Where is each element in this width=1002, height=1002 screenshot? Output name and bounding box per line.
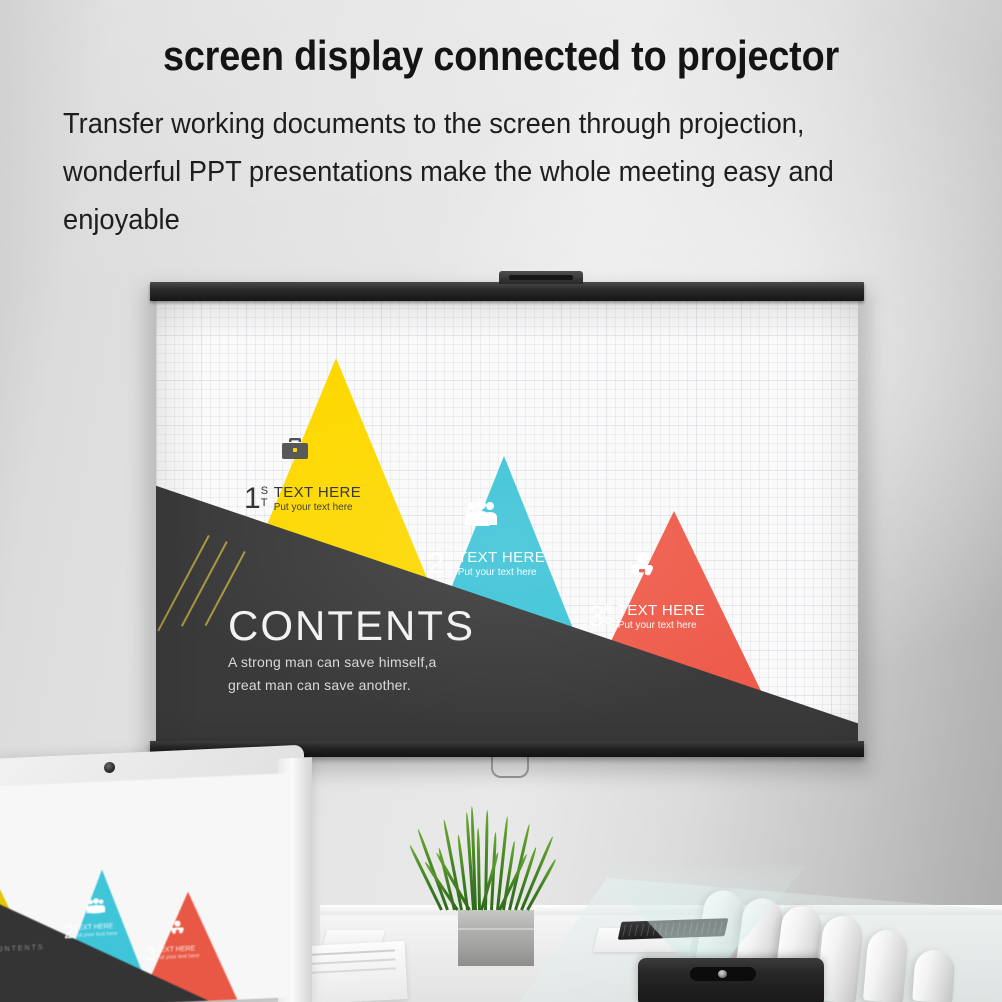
people-group-icon: [464, 499, 498, 532]
projection-screen: 1ST TEXT HERE Put your text here 2ND TEX…: [150, 282, 864, 768]
mini-peak-3-subtitle: Put your text here: [156, 953, 199, 962]
peak-2-number: 2: [428, 549, 445, 579]
peak-1-subtitle: Put your text here: [274, 501, 362, 514]
peak-3-subtitle: Put your text here: [618, 619, 706, 632]
laptop-showing-same-slide: 2 TEXT HERE Put your text here 3 TEXT HE…: [0, 752, 312, 1002]
chair: [863, 928, 909, 1002]
header-text-block: screen display connected to projector Tr…: [0, 0, 1002, 244]
mini-person-at-desk-icon: [168, 920, 187, 942]
peak-1-title: TEXT HERE: [274, 485, 362, 501]
peak-3-text-group: TEXT HERE Put your text here: [618, 602, 706, 632]
mini-peak-3-text: TEXT HERE Put your text here: [156, 943, 199, 962]
peak-label-3: 3RD TEXT HERE Put your text here: [588, 602, 705, 632]
mini-peak-label-3: 3 TEXT HERE Put your text here: [146, 943, 199, 963]
mini-peak-label-2: 2 TEXT HERE Put your text here: [64, 921, 117, 941]
laptop-screen: 2 TEXT HERE Put your text here 3 TEXT HE…: [0, 773, 288, 1002]
peak-2-subtitle: Put your text here: [458, 566, 546, 579]
peak-1-text-group: TEXT HERE Put your text here: [274, 484, 362, 514]
potted-grass-plant: [410, 812, 580, 962]
peak-1-number: 1: [244, 484, 261, 514]
mini-people-group-icon: [86, 897, 106, 919]
peak-3-title: TEXT HERE: [618, 603, 706, 619]
briefcase-icon: [280, 435, 310, 467]
projected-slide: 1ST TEXT HERE Put your text here 2ND TEX…: [156, 301, 858, 741]
contents-subtitle-line1: A strong man can save himself,a: [228, 653, 475, 672]
peak-2-title: TEXT HERE: [458, 550, 546, 566]
page-subtitle: Transfer working documents to the screen…: [48, 100, 900, 244]
contents-title: CONTENTS: [228, 603, 475, 649]
projector-lens: [690, 967, 756, 981]
peak-2-text-group: TEXT HERE Put your text here: [458, 549, 546, 579]
peak-3-ordinal: RD: [605, 602, 618, 627]
mini-dark-wedge: [0, 773, 288, 1002]
wall-mount-bracket: [499, 271, 583, 284]
video-projector: [638, 958, 824, 1002]
mini-peak-2-number: 2: [64, 923, 74, 941]
peak-2-ordinal: ND: [445, 549, 458, 574]
mini-peak-3-number: 3: [146, 945, 156, 963]
product-marketing-image: screen display connected to projector Tr…: [0, 0, 1002, 1002]
person-at-desk-icon: [626, 552, 658, 585]
peak-label-2: 2ND TEXT HERE Put your text here: [428, 549, 545, 579]
peak-3-number: 3: [588, 602, 605, 632]
mini-peak-2-subtitle: Put your text here: [74, 931, 117, 940]
screen-top-rail: [150, 282, 864, 301]
contents-block: CONTENTS A strong man can save himself,a…: [228, 603, 475, 695]
chair: [912, 949, 956, 1002]
page-title: screen display connected to projector: [50, 30, 952, 82]
screen-pull-handle[interactable]: [491, 754, 529, 778]
peak-1-ordinal: ST: [261, 484, 274, 509]
mini-peak-2-text: TEXT HERE Put your text here: [74, 921, 117, 940]
peak-label-1: 1ST TEXT HERE Put your text here: [244, 484, 361, 514]
plant-pot: [458, 910, 534, 966]
screen-surface: 1ST TEXT HERE Put your text here 2ND TEX…: [156, 301, 858, 741]
contents-subtitle-line2: great man can save another.: [228, 676, 475, 695]
